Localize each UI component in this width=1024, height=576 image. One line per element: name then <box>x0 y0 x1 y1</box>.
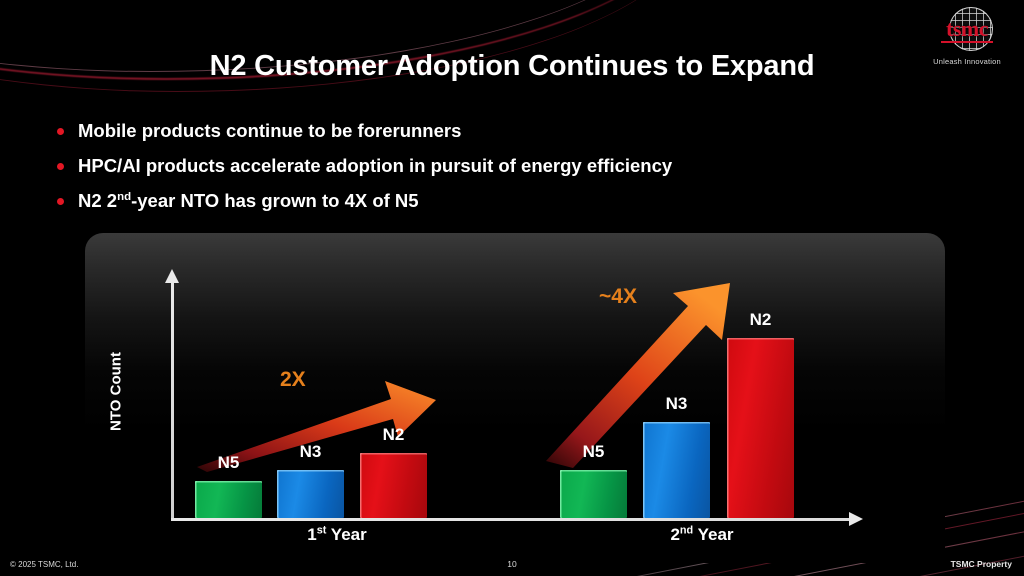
bullet-list: Mobile products continue to be forerunne… <box>52 120 952 225</box>
x-axis-arrowhead <box>849 512 863 526</box>
bullet-dot-icon <box>57 198 64 205</box>
x-axis-group-label-year2: 2nd Year <box>622 525 782 545</box>
bar-fill <box>560 470 627 518</box>
bar-label: N3 <box>300 442 322 462</box>
list-item: N2 2nd-year NTO has grown to 4X of N5 <box>52 190 952 212</box>
bar-year2-n2: N2 <box>727 338 794 518</box>
bar-label: N2 <box>383 425 405 445</box>
x-axis-line <box>171 518 851 521</box>
bar-fill <box>195 481 262 518</box>
tsmc-logo-mark: tsmc <box>935 6 999 54</box>
bullet-dot-icon <box>57 163 64 170</box>
bar-year1-n3: N3 <box>277 470 344 518</box>
bar-fill <box>277 470 344 518</box>
y-axis-line <box>171 281 174 521</box>
growth-label-year2: ~4X <box>599 285 637 309</box>
footer-property: TSMC Property <box>951 559 1012 569</box>
bar-year2-n5: N5 <box>560 470 627 518</box>
bar-label: N2 <box>750 310 772 330</box>
list-item: HPC/AI products accelerate adoption in p… <box>52 155 952 177</box>
bar-label: N3 <box>666 394 688 414</box>
y-axis-label: NTO Count <box>108 332 125 452</box>
bar-fill <box>360 453 427 518</box>
bar-year1-n5: N5 <box>195 481 262 518</box>
bullet-text: Mobile products continue to be forerunne… <box>78 120 461 141</box>
bullet-dot-icon <box>57 128 64 135</box>
x-axis-group-label-year1: 1st Year <box>257 525 417 545</box>
nto-count-bar-chart: NTO Count 2X <box>85 233 945 563</box>
bar-year1-n2: N2 <box>360 453 427 518</box>
footer-page-number: 10 <box>0 559 1024 569</box>
bar-year2-n3: N3 <box>643 422 710 518</box>
chart-panel: NTO Count 2X <box>85 233 945 563</box>
bar-label: N5 <box>583 442 605 462</box>
tsmc-underline <box>941 41 993 43</box>
tsmc-wordmark: tsmc <box>935 18 999 40</box>
bar-label: N5 <box>218 453 240 473</box>
bullet-text: N2 2nd-year NTO has grown to 4X of N5 <box>78 190 419 211</box>
bullet-text: HPC/AI products accelerate adoption in p… <box>78 155 672 176</box>
page-title: N2 Customer Adoption Continues to Expand <box>0 50 1024 83</box>
bar-fill <box>727 338 794 518</box>
growth-label-year1: 2X <box>280 368 306 392</box>
bar-fill <box>643 422 710 518</box>
list-item: Mobile products continue to be forerunne… <box>52 120 952 142</box>
